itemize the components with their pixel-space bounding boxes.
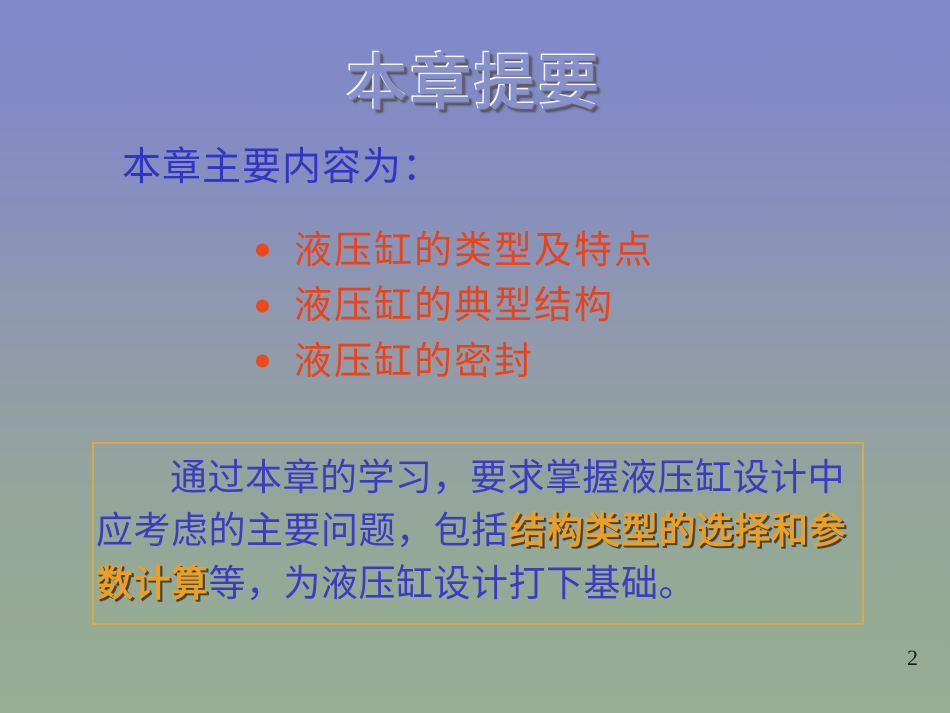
page-number: 2 [907, 645, 918, 671]
bullet-item-label: 液压缸的密封 [294, 339, 534, 383]
bullet-dot-icon [256, 244, 269, 257]
bullet-dot-icon [256, 355, 269, 368]
bullet-item-label: 液压缸的类型及特点 [294, 228, 654, 272]
list-item: 液压缸的典型结构 [250, 283, 654, 327]
list-item: 液压缸的密封 [250, 339, 654, 383]
summary-segment-plain-2: 等，为液压缸设计打下基础。 [209, 562, 697, 605]
bullet-item-label: 液压缸的典型结构 [294, 283, 614, 327]
presentation-slide: 本章提要 本章主要内容为： 液压缸的类型及特点 液压缸的典型结构 液压缸的密封 … [0, 0, 950, 713]
summary-paragraph: 通过本章的学习，要求掌握液压缸设计中应考虑的主要问题，包括结构类型的选择和参数计… [96, 452, 878, 610]
slide-title-container: 本章提要 [0, 52, 950, 117]
bullet-list: 液压缸的类型及特点 液压缸的典型结构 液压缸的密封 [250, 228, 654, 394]
bullet-dot-icon [256, 299, 269, 312]
slide-title: 本章提要 [347, 52, 603, 117]
list-item: 液压缸的类型及特点 [250, 228, 654, 272]
intro-line: 本章主要内容为： [122, 146, 442, 191]
